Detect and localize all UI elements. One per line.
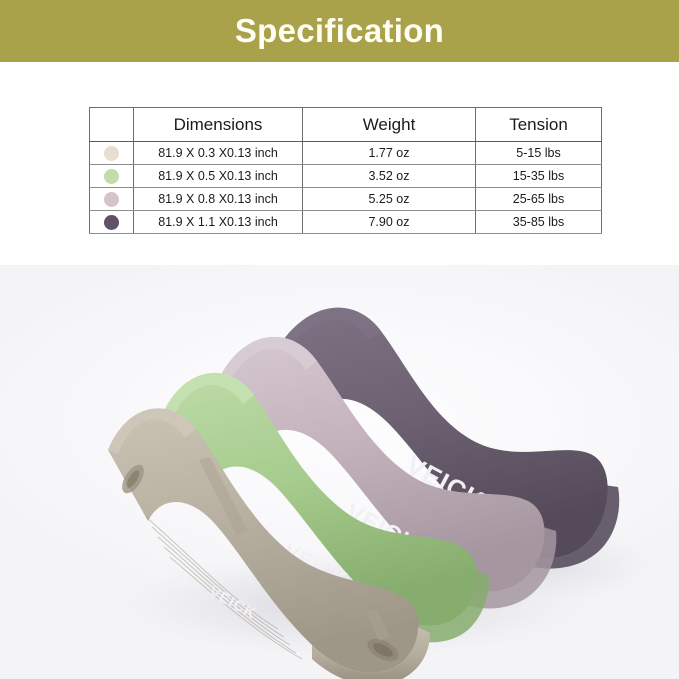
table-row: 81.9 X 1.1 X0.13 inch 7.90 oz 35-85 lbs [90, 211, 602, 234]
table-row: 81.9 X 0.5 X0.13 inch 3.52 oz 15-35 lbs [90, 165, 602, 188]
color-swatch-cell [90, 188, 134, 211]
green-swatch-icon [104, 169, 119, 184]
beige-swatch-icon [104, 146, 119, 161]
specification-table-container: Dimensions Weight Tension 81.9 X 0.3 X0.… [89, 107, 597, 234]
cell-dimensions: 81.9 X 0.3 X0.13 inch [134, 142, 303, 165]
mauve-swatch-icon [104, 192, 119, 207]
cell-tension: 5-15 lbs [476, 142, 602, 165]
column-header-weight: Weight [303, 108, 476, 142]
dark-purple-swatch-icon [104, 215, 119, 230]
cell-dimensions: 81.9 X 1.1 X0.13 inch [134, 211, 303, 234]
column-header-dimensions: Dimensions [134, 108, 303, 142]
color-swatch-cell [90, 142, 134, 165]
specification-table: Dimensions Weight Tension 81.9 X 0.3 X0.… [89, 107, 602, 234]
cell-weight: 1.77 oz [303, 142, 476, 165]
resistance-bands-illustration: VEICK VEICK VEICK [0, 265, 679, 679]
cell-dimensions: 81.9 X 0.8 X0.13 inch [134, 188, 303, 211]
page-title: Specification [235, 14, 444, 47]
color-swatch-cell [90, 165, 134, 188]
cell-dimensions: 81.9 X 0.5 X0.13 inch [134, 165, 303, 188]
cell-weight: 5.25 oz [303, 188, 476, 211]
column-header-color [90, 108, 134, 142]
cell-tension: 15-35 lbs [476, 165, 602, 188]
column-header-tension: Tension [476, 108, 602, 142]
table-row: 81.9 X 0.8 X0.13 inch 5.25 oz 25-65 lbs [90, 188, 602, 211]
cell-tension: 25-65 lbs [476, 188, 602, 211]
table-body: 81.9 X 0.3 X0.13 inch 1.77 oz 5-15 lbs 8… [90, 142, 602, 234]
product-photo: VEICK VEICK VEICK [0, 265, 679, 679]
cell-weight: 7.90 oz [303, 211, 476, 234]
header-banner: Specification [0, 0, 679, 62]
table-row: 81.9 X 0.3 X0.13 inch 1.77 oz 5-15 lbs [90, 142, 602, 165]
table-header-row: Dimensions Weight Tension [90, 108, 602, 142]
color-swatch-cell [90, 211, 134, 234]
cell-tension: 35-85 lbs [476, 211, 602, 234]
cell-weight: 3.52 oz [303, 165, 476, 188]
table-header: Dimensions Weight Tension [90, 108, 602, 142]
